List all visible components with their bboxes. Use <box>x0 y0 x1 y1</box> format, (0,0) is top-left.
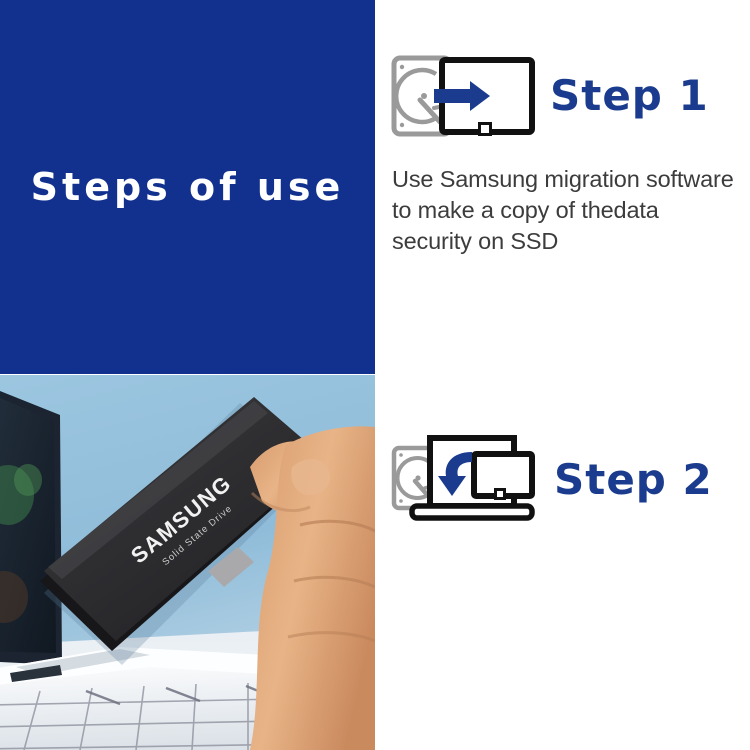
page-title: Steps of use <box>31 168 345 206</box>
step-2-label: Step 2 <box>554 459 713 501</box>
hand <box>250 426 375 750</box>
hero-panel: Steps of use <box>0 0 375 374</box>
hdd-to-ssd-transfer-icon <box>390 50 538 142</box>
laptop-drive-swap-icon <box>390 430 542 530</box>
ssd-glyph <box>474 454 532 500</box>
step-2-block: Step 2 Replace the original hard drive w… <box>375 375 750 750</box>
product-photo: SAMSUNG Solid State Drive <box>0 375 375 750</box>
step-1-block: Step 1 Use Samsung migration software to… <box>375 0 750 375</box>
step-1-header: Step 1 <box>390 50 709 142</box>
step-1-description: Use Samsung migration software to make a… <box>392 164 744 257</box>
step-2-header: Step 2 <box>390 430 713 530</box>
laptop-screen <box>0 383 62 665</box>
step-1-label: Step 1 <box>550 75 709 117</box>
promo-infographic: Steps of use <box>0 0 750 750</box>
